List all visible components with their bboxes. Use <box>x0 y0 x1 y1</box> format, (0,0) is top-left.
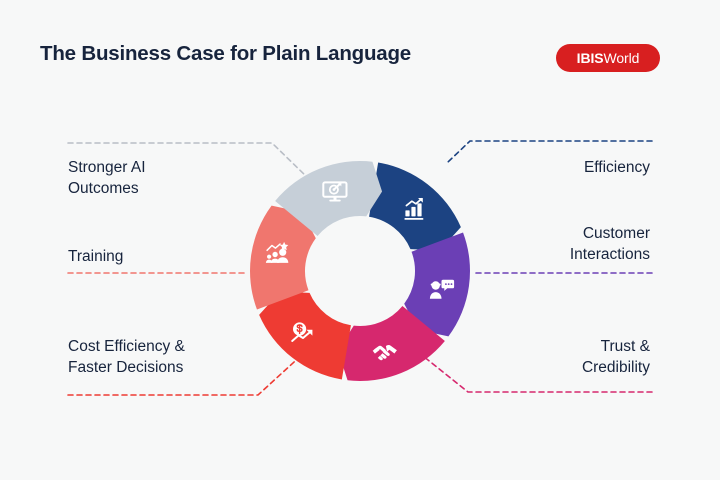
label-line-1: Efficiency <box>430 157 650 178</box>
label-line-2: Interactions <box>430 244 650 265</box>
label-line-1: Cost Efficiency & <box>68 336 288 357</box>
label-line-2: Outcomes <box>68 178 268 199</box>
label-training: Training <box>68 246 268 267</box>
label-line-2: Credibility <box>430 357 650 378</box>
label-line-1: Training <box>68 246 268 267</box>
label-customer-interactions: Customer Interactions <box>430 223 650 266</box>
label-stronger-ai-outcomes: Stronger AI Outcomes <box>68 157 268 200</box>
label-line-2: Faster Decisions <box>68 357 288 378</box>
label-trust-credibility: Trust & Credibility <box>430 336 650 379</box>
infographic-page: The Business Case for Plain Language IBI… <box>0 0 720 480</box>
label-efficiency: Efficiency <box>430 157 650 178</box>
label-line-1: Trust & <box>430 336 650 357</box>
label-line-1: Customer <box>430 223 650 244</box>
label-cost-efficiency: Cost Efficiency & Faster Decisions <box>68 336 288 379</box>
label-line-1: Stronger AI <box>68 157 268 178</box>
